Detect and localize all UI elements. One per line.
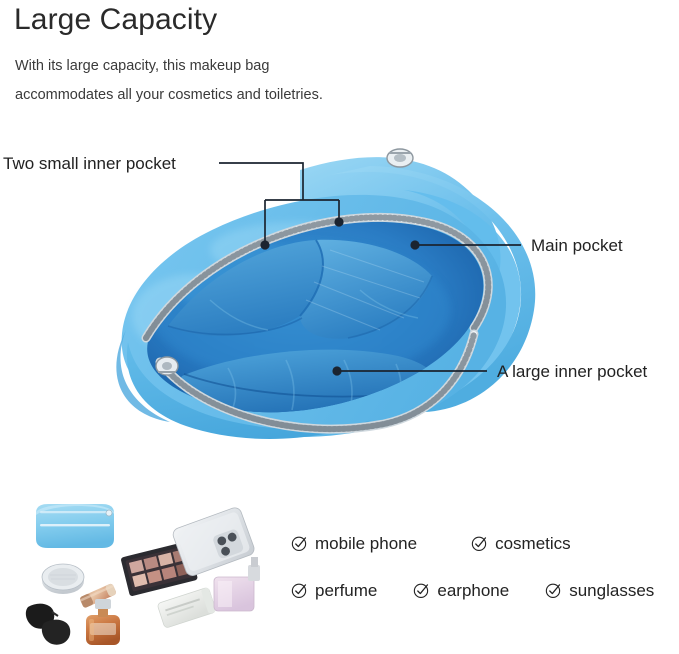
callout-label-main-pocket: Main pocket <box>531 237 623 254</box>
checklist-label: sunglasses <box>569 581 654 601</box>
circled-check-icon <box>291 535 308 552</box>
checklist-item-cosmetics: cosmetics <box>471 534 571 554</box>
checklist-label: cosmetics <box>495 534 571 554</box>
checklist-label: mobile phone <box>315 534 417 554</box>
collage-white-tube <box>157 587 216 628</box>
zipper-pull-right <box>387 149 413 167</box>
page-description-line-1: With its large capacity, this makeup bag <box>15 52 269 81</box>
product-collage-photo <box>18 495 278 649</box>
checklist-item-sunglasses: sunglasses <box>545 581 654 601</box>
page-title: Large Capacity <box>14 0 217 42</box>
open-bag-photo <box>0 130 679 460</box>
collage-cosmetic-bag <box>36 504 114 548</box>
collage-sunglasses <box>26 604 70 645</box>
callout-label-two-small-inner-pocket: Two small inner pocket <box>3 155 176 172</box>
infographic-page: Large Capacity With its large capacity, … <box>0 0 679 649</box>
circled-check-icon <box>291 582 308 599</box>
collage-perfume-bottle <box>86 599 120 645</box>
circled-check-icon <box>413 582 430 599</box>
checklist-item-earphone: earphone <box>413 581 509 601</box>
feature-checklist: mobile phone cosmetics perfume <box>289 520 679 614</box>
checklist-item-perfume: perfume <box>291 581 377 601</box>
page-description-line-2: accommodates all your cosmetics and toil… <box>15 81 323 110</box>
collage-compact-powder <box>42 564 84 594</box>
checklist-label: perfume <box>315 581 377 601</box>
checklist-row: perfume earphone sunglasses <box>289 567 679 614</box>
checklist-item-mobile-phone: mobile phone <box>291 534 417 554</box>
callout-label-large-inner-pocket: A large inner pocket <box>497 363 647 380</box>
zipper-pull-left <box>156 357 178 375</box>
checklist-row: mobile phone cosmetics <box>289 520 679 567</box>
circled-check-icon <box>545 582 562 599</box>
checklist-label: earphone <box>437 581 509 601</box>
circled-check-icon <box>471 535 488 552</box>
